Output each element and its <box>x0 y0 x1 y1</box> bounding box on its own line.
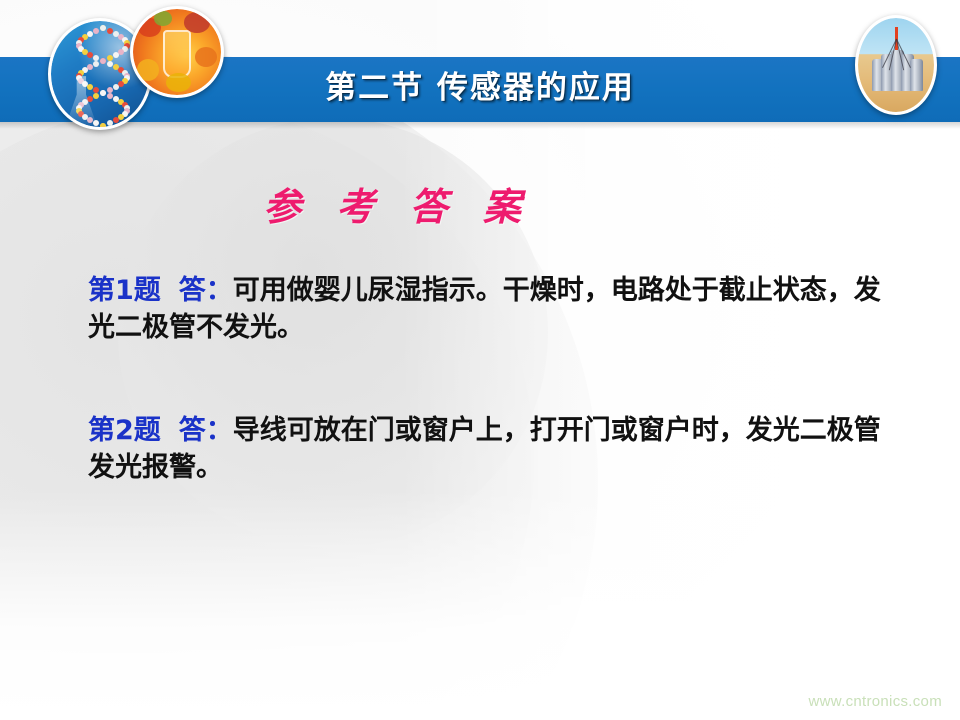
dna-base-dot <box>93 55 99 61</box>
page-title: 第二节 传感器的应用 <box>0 62 960 107</box>
presentation-slide: 第二节 传感器的应用 参 考 答 案 第1题答：可用做婴儿尿湿指示。干燥时，电路… <box>0 0 960 720</box>
answer-2-lead: 答： <box>179 415 233 446</box>
dna-base-dot <box>107 55 113 61</box>
answer-1-lead: 答： <box>179 275 233 306</box>
dna-base-dot <box>113 117 119 123</box>
header-banner-shadow <box>0 122 960 129</box>
answer-2-label: 第2题 <box>88 415 161 446</box>
dna-base-dot <box>118 49 124 55</box>
dna-base-dot <box>100 25 106 31</box>
answer-1-label: 第1题 <box>88 275 161 306</box>
dna-base-dot <box>93 28 99 34</box>
dna-base-dot <box>87 31 93 37</box>
dna-base-dot <box>87 52 93 58</box>
answer-item-1: 第1题答：可用做婴儿尿湿指示。干燥时，电路处于截止状态，发光二极管不发光。 <box>88 272 888 346</box>
dna-base-dot <box>107 28 113 34</box>
produce-blob <box>154 11 172 26</box>
answer-item-2: 第2题答：导线可放在门或窗户上，打开门或窗户时，发光二极管发光报警。 <box>88 412 888 486</box>
site-watermark: www.cntronics.com <box>809 693 942 710</box>
dna-base-dot <box>113 52 119 58</box>
dna-base-dot <box>100 123 106 129</box>
produce-blob <box>184 12 210 33</box>
dna-base-dot <box>107 120 113 126</box>
background-fade-bottom <box>0 490 960 720</box>
dna-base-dot <box>118 114 124 120</box>
reference-answer-heading: 参 考 答 案 <box>0 176 960 231</box>
